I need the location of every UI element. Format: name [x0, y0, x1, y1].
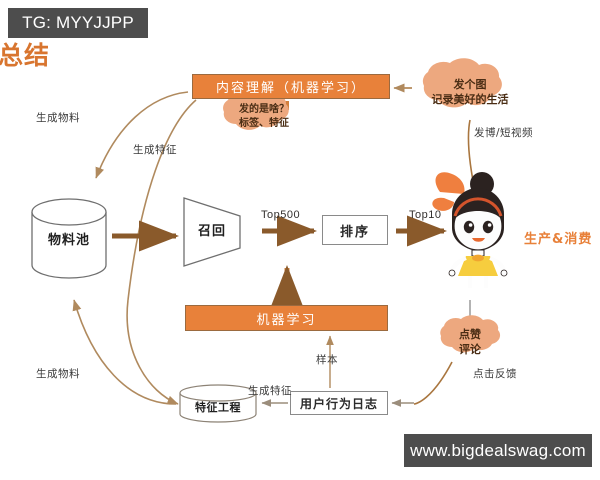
arrow-generate-material-bottom [74, 300, 176, 404]
node-feature-engineering[interactable]: 特征工程 [180, 386, 256, 426]
label-generate-feature-bottom: 生成特征 [248, 383, 292, 398]
cartoon-girl-avatar [432, 172, 507, 288]
cloud-post-photo: 发个图 记录美好的生活 [412, 66, 528, 118]
label-generate-material-top: 生成物料 [36, 110, 80, 125]
node-recall[interactable]: 召回 [182, 196, 242, 262]
watermark-bottom: www.bigdealswag.com [404, 434, 592, 467]
feature-engineering-label: 特征工程 [180, 399, 256, 415]
cloud-post-tags-text: 发的是啥？ 标签、特征 [212, 103, 316, 130]
recall-label: 召回 [182, 220, 242, 239]
label-click-feedback: 点击反馈 [473, 366, 517, 381]
label-weibo-shortvideo: 发博/短视频 [474, 125, 533, 140]
label-generate-feature-top: 生成特征 [133, 142, 177, 157]
curve-click-feedback [414, 362, 452, 404]
node-material-pool[interactable]: 物料池 [32, 199, 106, 277]
label-produce-consume: 生产&消费 [524, 228, 592, 247]
label-top10: Top10 [409, 209, 441, 221]
diagram-canvas: TG: MYYJJPP www.bigdealswag.com 总结 内容理解（… [0, 0, 600, 480]
label-top500: Top500 [261, 209, 300, 221]
label-generate-material-bottom: 生成物料 [36, 366, 80, 381]
node-rank[interactable]: 排序 [322, 215, 388, 245]
cloud-like-comment-text: 点赞 评论 [432, 328, 508, 358]
cloud-post-tags: 发的是啥？ 标签、特征 [212, 96, 316, 138]
node-user-behavior-log[interactable]: 用户行为日志 [290, 391, 388, 415]
watermark-top: TG: MYYJJPP [8, 8, 148, 38]
node-machine-learning[interactable]: 机器学习 [185, 305, 388, 331]
material-pool-label: 物料池 [32, 229, 106, 248]
page-title: 总结 [0, 36, 50, 72]
arrow-feature-loop-bottom [127, 300, 178, 404]
cloud-post-photo-text: 发个图 记录美好的生活 [412, 78, 528, 108]
label-sample: 样本 [316, 352, 338, 367]
cloud-like-comment: 点赞 评论 [432, 318, 508, 366]
arrow-generate-material-top [96, 92, 188, 178]
